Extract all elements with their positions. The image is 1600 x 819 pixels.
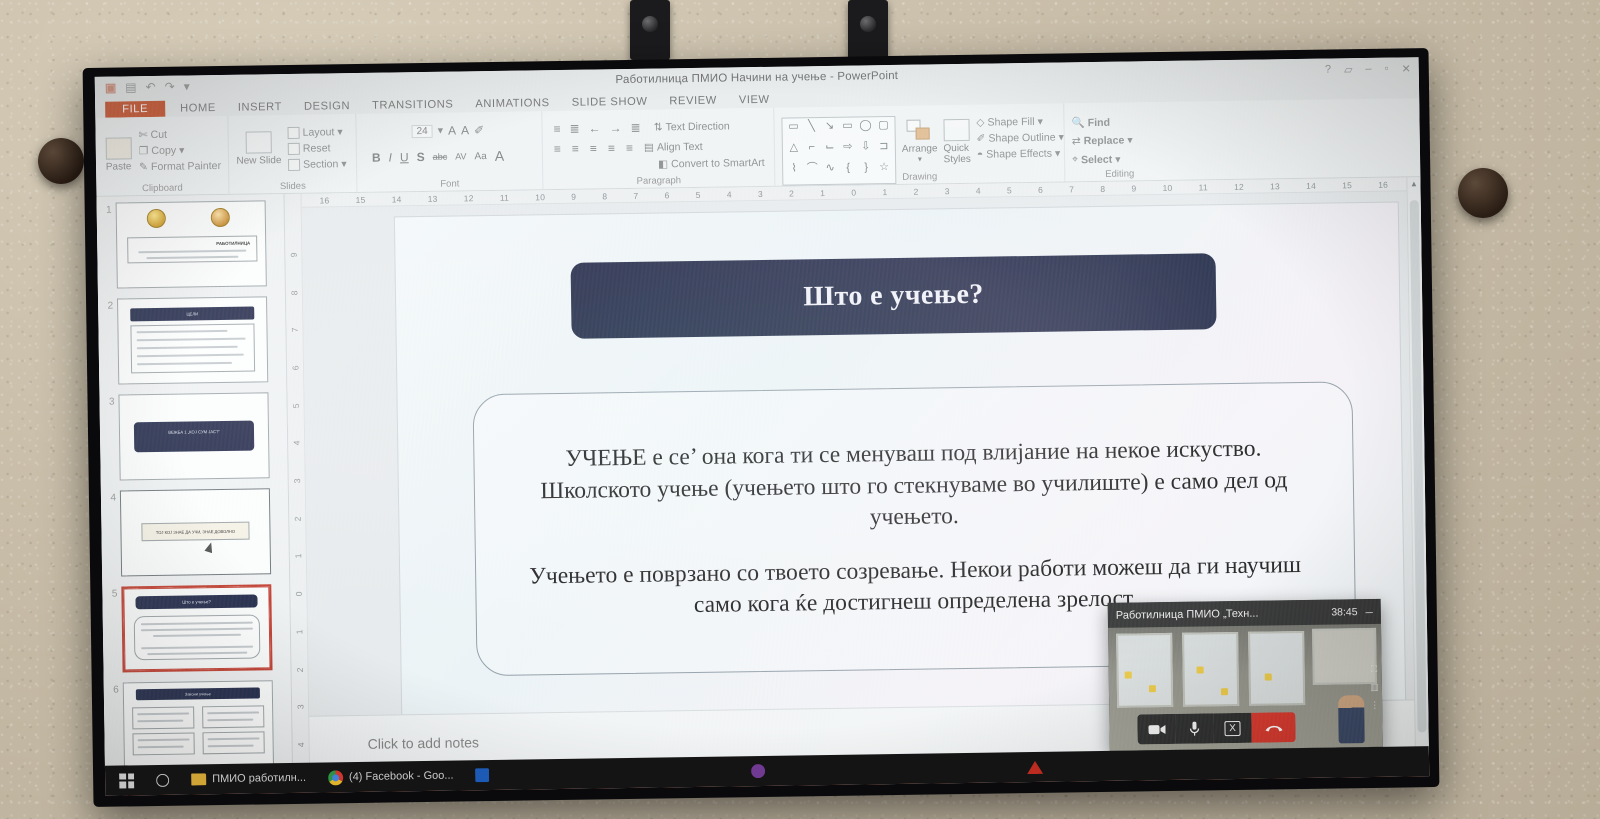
find-button[interactable]: 🔍Find [1071, 115, 1166, 129]
bracket-screw [860, 16, 876, 32]
taskbar-item-file-explorer[interactable]: ПМИО работилн... [191, 772, 306, 786]
shape-rectangle-icon[interactable]: ▭ [785, 120, 801, 140]
new-slide-icon [246, 131, 272, 153]
taskbar-item-office[interactable] [475, 768, 489, 782]
align-text-icon: ▤ [644, 142, 654, 154]
align-center-button[interactable]: ≡ [572, 142, 579, 156]
brush-icon: ✎ [139, 161, 148, 173]
vruler-tick: 8 [289, 290, 299, 295]
hruler-tick: 9 [571, 191, 576, 201]
ribbon-group-clipboard: Paste ✄Cut ❐Copy▾ ✎Format Painter Clipbo… [95, 116, 228, 196]
thumbnail-row[interactable]: 3 ВЕЖБА 1 „КОЈ СУМ ЈАС?“ [101, 392, 283, 481]
taskbar-item-purple-app[interactable] [751, 764, 765, 778]
hruler-tick: 8 [1100, 183, 1105, 193]
section-button[interactable]: Section▾ [288, 158, 347, 171]
thumbnail-row[interactable]: 4 ТОЈ КОЈ ЗНАЕ ДА УЧИ, ЗНАЕ ДОВОЛНО [103, 488, 285, 577]
slide-thumbnail-1[interactable]: РАБОТИЛНИЦА [116, 200, 267, 288]
chevron-down-icon[interactable]: ▾ [337, 126, 343, 138]
sticky-note [1149, 685, 1156, 692]
slides-group-label: Slides [229, 180, 356, 193]
hruler-tick: 16 [320, 195, 330, 205]
replace-button[interactable]: ⇄Replace▾ [1072, 134, 1167, 147]
hruler-tick: 15 [356, 194, 366, 204]
increase-indent-button[interactable]: → [610, 121, 622, 135]
office-icon [475, 768, 489, 782]
hruler-tick: 1 [820, 188, 825, 198]
vruler-tick: 1 [293, 554, 303, 559]
bullets-button[interactable]: ≡ [553, 122, 560, 136]
camera-toggle-button[interactable] [1137, 714, 1175, 745]
tab-design[interactable]: DESIGN [293, 99, 361, 115]
room-window-left [1116, 633, 1173, 708]
thumbnail-text: РАБОТИЛНИЦА [128, 241, 250, 248]
video-call-timer: 38:45 [1331, 606, 1357, 618]
video-call-window[interactable]: Работилница ПМИО „Техн... 38:45 – ⛶ ▥ ⋮ [1108, 599, 1383, 751]
reset-button[interactable]: Reset [288, 142, 347, 155]
vruler-tick: 4 [296, 742, 306, 747]
hruler-tick: 6 [665, 190, 670, 200]
hruler-tick: 5 [1007, 185, 1012, 195]
thumbnail-row[interactable]: 2 ЦЕЛИ [100, 296, 282, 385]
hruler-tick: 12 [464, 193, 474, 203]
thumbnail-row[interactable]: 5 Што е учење? [104, 584, 286, 673]
ribbon-group-paragraph: ≡ ≣ ← → ≣ ⇅Text Direction ≡ ≡ ≡ ≡ ≡ ▤Ali… [541, 108, 774, 189]
align-text-button[interactable]: ▤Align Text [644, 141, 703, 154]
thumbnail-textbox [130, 324, 255, 374]
character-spacing-button[interactable]: AV [455, 151, 466, 161]
coin-icon [147, 209, 166, 228]
vruler-tick: 7 [289, 328, 299, 333]
hruler-tick: 6 [1038, 184, 1043, 194]
binoculars-icon: 🔍 [1071, 116, 1084, 129]
hang-up-icon [1264, 722, 1283, 732]
shape-right-arrow-icon[interactable]: ⇨ [840, 141, 856, 161]
thumbnail-col-right-2 [202, 731, 264, 754]
chevron-down-icon[interactable]: ▾ [1037, 116, 1043, 128]
tab-review[interactable]: REVIEW [658, 93, 728, 109]
shape-outline-button[interactable]: ✐Shape Outline▾ [976, 131, 1064, 144]
text-direction-button[interactable]: ⇅Text Direction [654, 120, 730, 133]
reset-icon [288, 143, 300, 155]
monitor-bezel: ▣ ▤ ↶ ↷ ▾ Работилница ПМИО Начини на уче… [83, 48, 1440, 807]
hruler-tick: 11 [500, 192, 509, 202]
hruler-tick: 4 [727, 189, 732, 199]
tab-file[interactable]: FILE [105, 101, 165, 118]
cursor-icon: ⌖ [1072, 153, 1078, 166]
ceiling-bracket-right [848, 0, 888, 60]
effects-icon: ◓ [977, 149, 984, 161]
text-shadow-button[interactable]: S [417, 150, 425, 164]
thumbnail-text: Закони учење [136, 690, 260, 697]
thumbnail-number: 5 [104, 587, 117, 600]
bracket-screw [642, 16, 658, 32]
shape-triangle-icon[interactable]: △ [786, 141, 802, 161]
slide-thumbnail-4[interactable]: ТОЈ КОЈ ЗНАЕ ДА УЧИ, ЗНАЕ ДОВОЛНО [120, 488, 271, 576]
section-icon [288, 159, 300, 171]
vruler-tick: 9 [288, 252, 298, 257]
thumbnail-title-bar: Што е учење? [135, 594, 258, 609]
shape-fill-button[interactable]: ◇Shape Fill▾ [976, 115, 1064, 128]
tab-view[interactable]: VIEW [728, 93, 781, 109]
restore-icon[interactable]: ▫ [1385, 62, 1389, 75]
sticky-note [1221, 688, 1228, 695]
hruler-tick: 2 [914, 186, 919, 196]
convert-to-smartart-button[interactable]: ◧Convert to SmartArt [658, 157, 765, 171]
align-right-button[interactable]: ≡ [590, 141, 597, 155]
help-icon[interactable]: ? [1325, 63, 1331, 76]
thumbnail-title-bar: ЦЕЛИ [130, 307, 255, 322]
editing-group-label: Editing [1065, 168, 1174, 181]
search-icon [156, 773, 169, 786]
scissors-icon: ✄ [139, 129, 148, 141]
hruler-tick: 10 [535, 192, 545, 202]
stop-sharing-button[interactable]: X [1213, 713, 1251, 744]
clipboard-group-label: Clipboard [96, 182, 228, 195]
slide-thumbnail-6[interactable]: Закони учење [123, 680, 274, 768]
thumbnail-textbox: ТОЈ КОЈ ЗНАЕ ДА УЧИ, ЗНАЕ ДОВОЛНО [141, 522, 249, 542]
shape-line-icon[interactable]: ╲ [803, 120, 819, 140]
stop-share-x-icon: X [1224, 720, 1241, 735]
italic-button[interactable]: I [389, 150, 393, 164]
vruler-tick: 0 [293, 592, 303, 597]
paragraph-group-label: Paragraph [543, 174, 774, 188]
font-group-label: Font [357, 177, 542, 191]
taskbar-item-chrome[interactable]: (4) Facebook - Goo... [328, 768, 454, 785]
shape-rounded-icon[interactable]: ▢ [875, 119, 891, 139]
thumbnail-title-bar: Закони учење [136, 687, 260, 700]
shape-oval-icon[interactable]: ◯ [857, 119, 873, 139]
minimize-icon[interactable]: – [1365, 604, 1372, 619]
paragraph-row-bottom: ◧Convert to SmartArt [550, 153, 767, 172]
video-call-controls[interactable]: X [1137, 712, 1295, 744]
shape-effects-button[interactable]: ◓Shape Effects▾ [977, 147, 1065, 160]
shape-callout-icon[interactable]: ⊐ [876, 140, 892, 160]
decrease-indent-button[interactable]: ← [589, 121, 601, 135]
vruler-tick: 4 [291, 441, 301, 446]
more-options-icon[interactable]: ⋮ [1370, 700, 1379, 711]
thumbnail-text: ЦЕЛИ [130, 311, 254, 318]
replace-icon: ⇄ [1072, 135, 1081, 147]
shrink-font-button[interactable]: A [461, 123, 469, 137]
chevron-down-icon[interactable]: ▾ [341, 158, 347, 170]
vruler-tick: 1 [294, 629, 304, 634]
ribbon-display-icon[interactable]: ▱ [1344, 63, 1353, 76]
chrome-icon [328, 770, 343, 785]
screen: ▣ ▤ ↶ ↷ ▾ Работилница ПМИО Начини на уче… [95, 57, 1430, 796]
room-wall-panel [1312, 628, 1377, 685]
hruler-tick: 8 [602, 191, 607, 201]
line-spacing-button[interactable]: ≣ [631, 121, 641, 135]
hruler-tick: 3 [945, 186, 950, 196]
microphone-toggle-button[interactable] [1175, 713, 1213, 744]
bold-button[interactable]: B [372, 151, 381, 165]
cut-button[interactable]: ✄Cut [139, 128, 221, 141]
folder-icon [191, 773, 206, 785]
hruler-tick: 9 [1131, 183, 1136, 193]
ribbon-group-slides: New Slide Layout▾ Reset Section▾ Slides [227, 114, 356, 194]
slide-thumbnail-pane[interactable]: 1 РАБОТИЛНИЦА 2 ЦЕЛИ [97, 194, 294, 775]
thumbnail-body [134, 614, 261, 660]
microphone-icon [1189, 721, 1199, 736]
person-silhouette [1338, 695, 1365, 743]
outline-icon: ✐ [976, 133, 985, 145]
ceiling-bracket-left [630, 0, 670, 60]
hruler-tick: 13 [428, 193, 438, 203]
thumbnail-banner: ВЕЖБА 1 „КОЈ СУМ ЈАС?“ [134, 421, 254, 453]
text-direction-icon: ⇅ [654, 121, 663, 133]
tab-slide-show[interactable]: SLIDE SHOW [561, 94, 659, 110]
mouse-cursor-icon [204, 541, 215, 553]
wall-knob-right [1458, 168, 1508, 218]
video-call-feed: ⛶ ▥ ⋮ X [1108, 624, 1383, 751]
thumbnail-textbox: РАБОТИЛНИЦА [127, 235, 257, 263]
slide-thumbnail-5-selected[interactable]: Што е учење? [121, 584, 272, 672]
notes-placeholder: Click to add notes [368, 734, 480, 752]
sticky-note [1197, 666, 1204, 673]
ribbon-group-editing: 🔍Find ⇄Replace▾ ⌖Select▾ Editing [1063, 102, 1174, 182]
grow-font-button[interactable]: A [448, 123, 456, 137]
chevron-down-icon[interactable]: ▾ [918, 155, 922, 163]
room-window-right [1248, 631, 1305, 706]
ribbon-group-drawing: ▭ ╲ ↘ ▭ ◯ ▢ △ ⌐ ⌙ ⇨ ⇩ ⊐ ⌇ ⌒ ∿ { } ☆ [773, 103, 1064, 185]
hruler-tick: 1 [882, 187, 887, 197]
copy-icon: ❐ [139, 145, 149, 157]
hruler-tick: 13 [1270, 181, 1280, 191]
font-size-input[interactable]: 24 [411, 124, 432, 137]
shape-down-arrow-icon[interactable]: ⇩ [858, 140, 874, 160]
slide-thumbnail-2[interactable]: ЦЕЛИ [117, 296, 268, 384]
thumbnail-number: 6 [106, 683, 119, 696]
columns-button[interactable]: ≡ [626, 141, 633, 155]
font-row-top: 24 ▾ A A ✐ [363, 115, 534, 139]
hruler-tick: 3 [758, 188, 763, 198]
vruler-tick: 6 [290, 365, 300, 370]
tab-home[interactable]: HOME [169, 101, 227, 117]
thumbnail-number: 3 [101, 395, 114, 408]
vruler-tick: 2 [294, 667, 304, 672]
clear-formatting-button[interactable]: ✐ [474, 123, 484, 137]
font-row-bottom: B I U S abc AV Aa A [364, 136, 535, 166]
align-left-button[interactable]: ≡ [554, 142, 561, 156]
thumbnail-col-left [132, 706, 194, 729]
select-button[interactable]: ⌖Select▾ [1072, 152, 1167, 166]
vruler-tick: 5 [291, 403, 301, 408]
thumbnail-number: 1 [99, 203, 112, 216]
layout-button[interactable]: Layout▾ [287, 126, 346, 139]
coin-icon [211, 208, 230, 227]
thumbnail-col-right [202, 705, 264, 728]
justify-button[interactable]: ≡ [608, 141, 615, 155]
participants-icon[interactable]: ▥ [1370, 682, 1379, 693]
format-painter-button[interactable]: ✎Format Painter [139, 160, 221, 173]
slide-thumbnail-3[interactable]: ВЕЖБА 1 „КОЈ СУМ ЈАС?“ [118, 392, 269, 480]
font-color-button[interactable]: A [495, 148, 505, 164]
smartart-icon: ◧ [658, 158, 668, 170]
thumbnail-number: 2 [100, 299, 113, 312]
hruler-tick: 7 [1069, 184, 1074, 194]
wall-knob-left [38, 138, 84, 184]
thumbnail-number: 4 [103, 491, 116, 504]
hruler-tick: 11 [1199, 182, 1208, 192]
search-button[interactable] [156, 773, 169, 786]
slide-title-text: Што е учење? [803, 279, 984, 314]
taskbar-item-red-app[interactable] [1027, 760, 1043, 773]
hruler-tick: 2 [789, 188, 794, 198]
app-purple-icon [751, 764, 765, 778]
minimize-icon[interactable]: – [1365, 62, 1371, 75]
slide-paragraph-1: УЧЕЊЕ е се’ она кога ти се менуваш под в… [520, 433, 1307, 539]
hang-up-button[interactable] [1251, 712, 1295, 743]
thumbnail-text: Што е учење? [135, 598, 258, 605]
sticky-note [1265, 673, 1272, 680]
copy-button[interactable]: ❐Copy▾ [139, 144, 221, 157]
window-controls[interactable]: ? ▱ – ▫ ✕ [1325, 62, 1411, 76]
hruler-tick: 4 [976, 185, 981, 195]
windows-icon [119, 773, 134, 788]
font-size-dropdown-icon[interactable]: ▾ [438, 125, 444, 137]
hruler-tick: 5 [696, 189, 701, 199]
shape-square-icon[interactable]: ▭ [839, 120, 855, 140]
shape-connector-icon[interactable]: ⌙ [822, 141, 838, 161]
tab-transitions[interactable]: TRANSITIONS [361, 97, 464, 114]
hruler-tick: 14 [1306, 180, 1316, 190]
fill-icon: ◇ [976, 117, 984, 129]
start-button[interactable] [119, 773, 134, 788]
chevron-down-icon[interactable]: ▾ [179, 145, 185, 157]
thumbnail-col-left-2 [132, 732, 194, 755]
tab-animations[interactable]: ANIMATIONS [464, 96, 561, 112]
room-window-mid [1182, 632, 1239, 707]
paste-icon [105, 137, 131, 159]
layout-icon [287, 127, 299, 139]
tab-insert[interactable]: INSERT [227, 100, 293, 116]
hruler-tick: 7 [633, 190, 638, 200]
hruler-tick: 14 [392, 194, 402, 204]
ribbon-group-font: 24 ▾ A A ✐ B I U S abc AV Aa A Font [355, 111, 542, 192]
scroll-up-icon[interactable]: ▲ [1410, 179, 1418, 188]
video-side-controls[interactable]: ⛶ ▥ ⋮ [1370, 664, 1380, 711]
hruler-tick: 15 [1342, 180, 1352, 190]
numbering-button[interactable]: ≣ [569, 122, 579, 136]
underline-button[interactable]: U [400, 150, 409, 164]
arrange-icon [906, 119, 932, 141]
close-icon[interactable]: ✕ [1401, 62, 1410, 75]
chevron-down-icon[interactable]: ▾ [1115, 153, 1121, 165]
change-case-button[interactable]: Aa [474, 151, 486, 162]
strikethrough-button[interactable]: abc [433, 152, 448, 162]
thumbnail-text: ВЕЖБА 1 „КОЈ СУМ ЈАС?“ [134, 429, 254, 437]
shape-arrow-icon[interactable]: ↘ [821, 120, 837, 140]
camera-icon [1148, 724, 1165, 735]
vruler-tick: 3 [292, 479, 302, 484]
video-call-title: Работилница ПМИО „Техн... [1116, 607, 1259, 621]
hruler-tick: 0 [851, 187, 856, 197]
thumbnail-row[interactable]: 1 РАБОТИЛНИЦА [99, 200, 281, 289]
hruler-tick: 16 [1378, 179, 1388, 189]
vruler-tick: 3 [295, 705, 305, 710]
sticky-note [1125, 672, 1132, 679]
thumbnail-text: ТОЈ КОЈ ЗНАЕ ДА УЧИ, ЗНАЕ ДОВОЛНО [142, 529, 248, 536]
chevron-down-icon[interactable]: ▾ [1127, 134, 1133, 146]
fullscreen-icon[interactable]: ⛶ [1371, 664, 1377, 675]
chevron-down-icon[interactable]: ▾ [1055, 148, 1061, 160]
hruler-tick: 12 [1234, 181, 1244, 191]
shape-elbow-icon[interactable]: ⌐ [804, 141, 820, 161]
vruler-tick: 2 [292, 516, 302, 521]
app-red-icon [1027, 760, 1043, 773]
quick-styles-icon [944, 119, 970, 141]
thumbnail-row[interactable]: 6 Закони учење [106, 680, 288, 769]
hruler-tick: 10 [1162, 182, 1172, 192]
slide-title-shape[interactable]: Што е учење? [571, 253, 1217, 339]
